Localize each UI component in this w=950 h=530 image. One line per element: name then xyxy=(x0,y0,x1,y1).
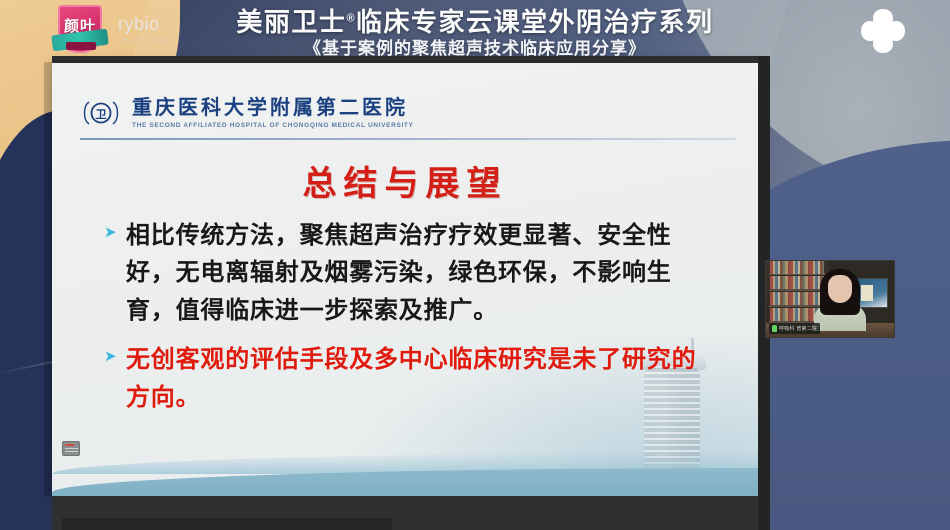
participant-face xyxy=(828,275,852,303)
hospital-name-block: 重庆医科大学附属第二医院 THE SECOND AFFILIATED HOSPI… xyxy=(132,98,414,129)
participant-name-text: 呼吸科 普第二院 xyxy=(779,325,817,332)
slide-bullet-list: ➤ 相比传统方法，聚焦超声治疗疗效更显著、安全性好，无电离辐射及烟雾污染，绿色环… xyxy=(104,217,720,428)
bullet-arrow-icon: ➤ xyxy=(104,349,124,364)
hospital-name-en: THE SECOND AFFILIATED HOSPITAL OF CHONGQ… xyxy=(132,122,414,129)
bullet-arrow-icon: ➤ xyxy=(104,225,124,240)
participant-video-tile[interactable]: 呼吸科 普第二院 xyxy=(765,260,895,338)
hospital-header-rule xyxy=(80,138,736,140)
bullet-item: ➤ 无创客观的评估手段及多中心临床研究是未了研究的方向。 xyxy=(104,341,720,416)
microphone-icon xyxy=(772,325,777,332)
clover-medical-logo-icon xyxy=(858,6,908,56)
participant-avatar xyxy=(814,269,866,331)
presentation-slide: 卫 重庆医科大学附属第二医院 THE SECOND AFFILIATED HOS… xyxy=(52,62,758,496)
slide-corner-thumbnail-icon xyxy=(62,441,80,456)
svg-text:卫: 卫 xyxy=(96,108,107,121)
registered-mark: ® xyxy=(346,12,356,24)
banner-title-rest: 临床专家云课堂外阴治疗系列 xyxy=(356,7,714,37)
hospital-header: 卫 重庆医科大学附属第二医院 THE SECOND AFFILIATED HOS… xyxy=(80,90,736,136)
video-frame-bottom-inset xyxy=(62,518,392,530)
participant-name-label: 呼吸科 普第二院 xyxy=(769,323,820,334)
video-frame-top-bar xyxy=(52,56,758,63)
slide-title: 总结与展望 xyxy=(52,156,758,205)
banner-title-main: 美丽卫士 xyxy=(236,7,346,37)
video-frame-left-edge xyxy=(44,62,52,496)
bullet-text: 相比传统方法，聚焦超声治疗疗效更显著、安全性好，无电离辐射及烟雾污染，绿色环保，… xyxy=(126,217,720,329)
bullet-item: ➤ 相比传统方法，聚焦超声治疗疗效更显著、安全性好，无电离辐射及烟雾污染，绿色环… xyxy=(104,217,720,329)
hospital-name-cn: 重庆医科大学附属第二医院 xyxy=(132,98,414,118)
webinar-banner: 颜叶 rybio 瑞美生科技 美丽卫士®临床专家云课堂外阴治疗系列 《基于案例的… xyxy=(0,0,950,62)
bullet-text: 无创客观的评估手段及多中心临床研究是未了研究的方向。 xyxy=(126,341,720,416)
hospital-crest-emblem-icon: 卫 xyxy=(80,96,122,130)
